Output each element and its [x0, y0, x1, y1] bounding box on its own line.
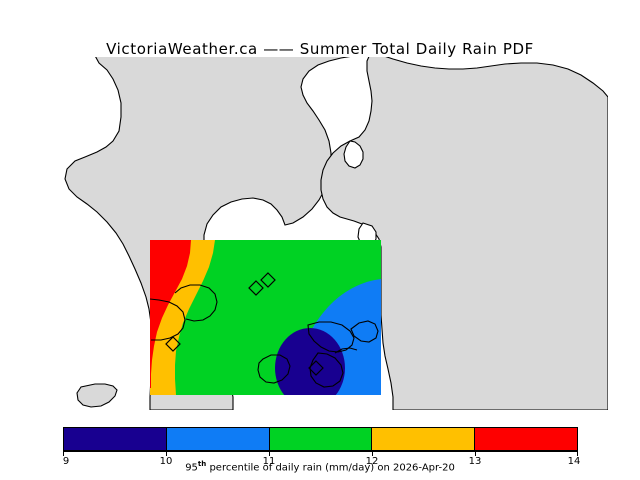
caption-rest: percentile of daily rain (mm/day) on 202… — [206, 462, 455, 473]
colorbar-segment-11-12[interactable] — [270, 428, 373, 450]
colorbar-segment-10-11[interactable] — [167, 428, 270, 450]
contour-field — [150, 240, 381, 408]
weather-map-page: VictoriaWeather.ca —— Summer Total Daily… — [0, 0, 640, 480]
colorbar-axis: 9 10 11 12 13 14 — [63, 451, 578, 454]
caption-percentile-number: 95 — [185, 462, 198, 473]
colorbar-caption: 95th percentile of daily rain (mm/day) o… — [0, 460, 640, 473]
colorbar-segment-12-13[interactable] — [372, 428, 475, 450]
map-canvas[interactable] — [63, 57, 608, 410]
colorbar-segment-9-10[interactable] — [64, 428, 167, 450]
page-title: VictoriaWeather.ca —— Summer Total Daily… — [0, 40, 640, 58]
colorbar[interactable] — [63, 427, 578, 451]
colorbar-track[interactable] — [63, 427, 578, 451]
map-panel[interactable] — [63, 57, 608, 410]
colorbar-segment-13-14[interactable] — [475, 428, 577, 450]
caption-percentile-suffix: th — [198, 460, 206, 468]
